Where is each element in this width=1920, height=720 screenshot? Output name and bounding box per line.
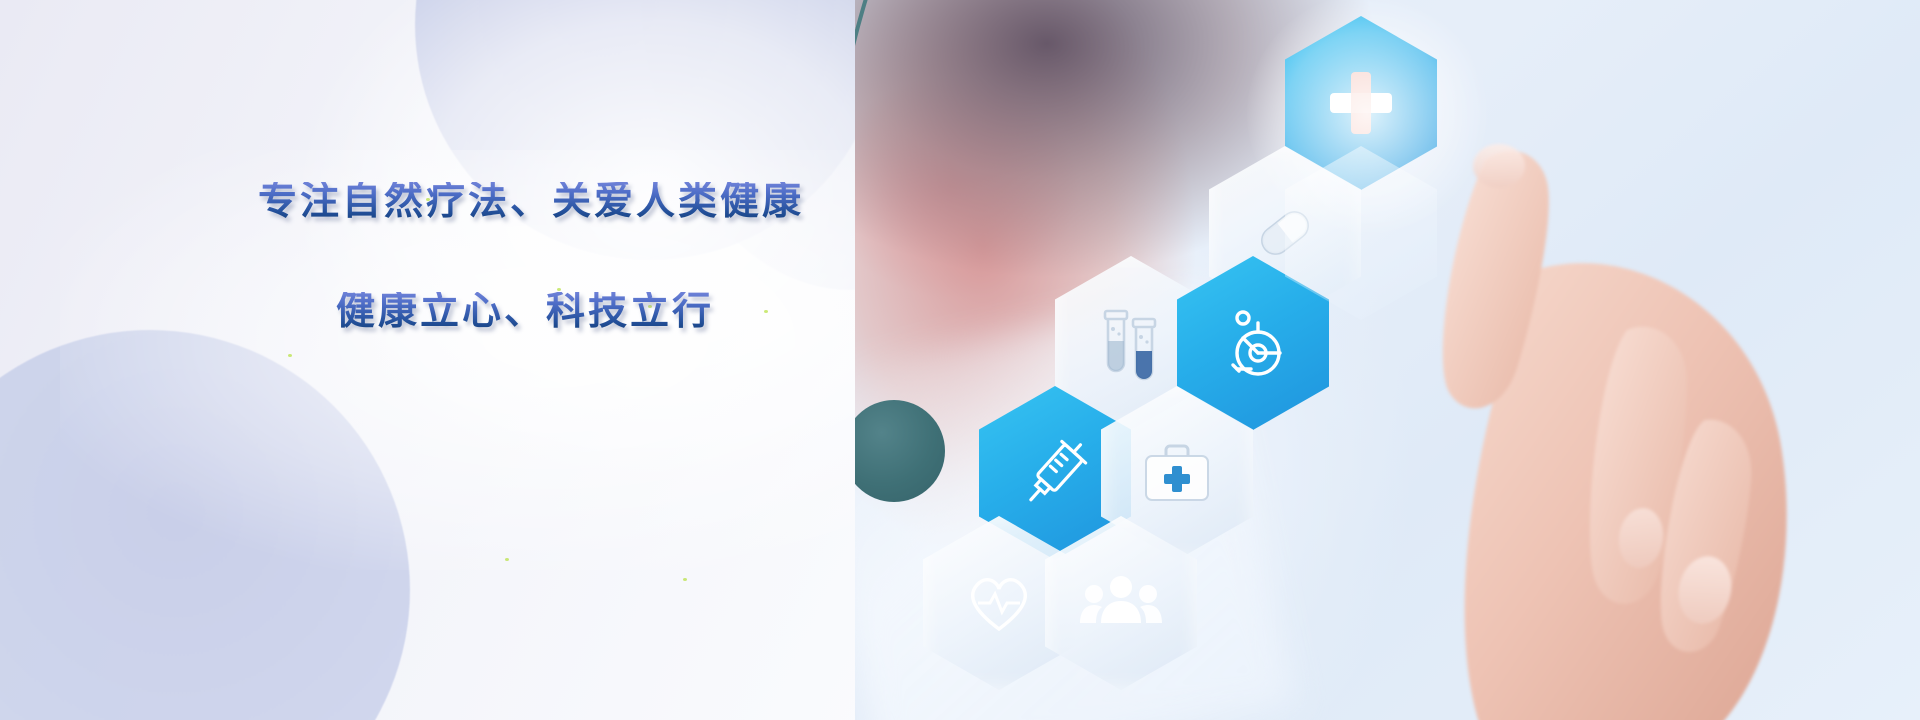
medical-kit-icon <box>1140 440 1214 506</box>
medical-cross-icon <box>1324 66 1398 140</box>
people-group-icon <box>1080 572 1162 634</box>
headline-group: 专注自然疗法、关爱人类健康 健康立心、科技立行 <box>258 182 898 331</box>
sparkle-dot <box>683 578 687 581</box>
test-tubes-icon <box>1095 303 1167 383</box>
hero-banner: 专注自然疗法、关爱人类健康 健康立心、科技立行 <box>0 0 1920 720</box>
photo-panel <box>855 0 1920 720</box>
wheelchair-icon <box>1213 303 1293 383</box>
sparkle-dot <box>288 354 292 357</box>
headline-line-2: 健康立心、科技立行 <box>336 292 898 331</box>
heart-icon <box>964 571 1034 635</box>
blank-hex-icon <box>1356 228 1366 238</box>
hexagon-icon-cluster <box>855 0 1920 720</box>
headline-line-1: 专注自然疗法、关爱人类健康 <box>258 182 898 221</box>
sparkle-dot <box>505 558 509 561</box>
syringe-icon <box>1013 431 1097 515</box>
